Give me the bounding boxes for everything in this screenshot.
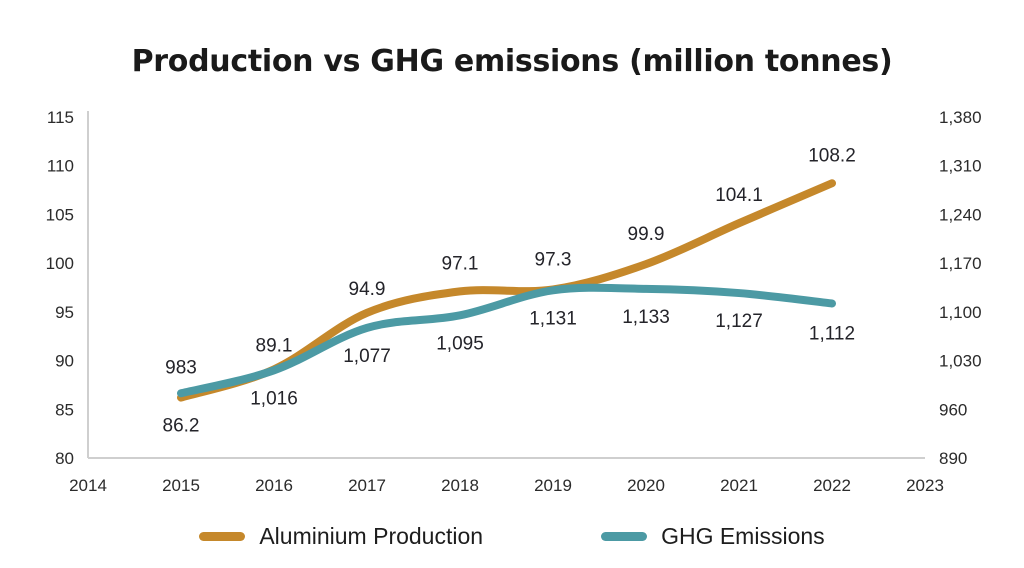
legend-label: GHG Emissions xyxy=(661,523,825,550)
series-layer xyxy=(181,183,832,397)
y-axis-tick-label-right: 960 xyxy=(939,400,967,419)
data-label: 99.9 xyxy=(628,224,665,245)
x-axis-tick-label: 2017 xyxy=(348,476,386,495)
chart-legend: Aluminium Production GHG Emissions xyxy=(0,523,1024,550)
y-axis-tick-label-left: 90 xyxy=(55,352,74,371)
data-label: 89.1 xyxy=(256,335,293,356)
legend-swatch-icon xyxy=(601,532,647,541)
legend-item-ghg-emissions[interactable]: GHG Emissions xyxy=(601,523,825,550)
y-axis-tick-label-right: 1,240 xyxy=(939,205,982,224)
data-label: 104.1 xyxy=(715,185,763,206)
y-axis-tick-label-right: 890 xyxy=(939,449,967,468)
x-axis-tick-label: 2015 xyxy=(162,476,200,495)
y-axis-tick-label-left: 110 xyxy=(47,157,74,176)
x-axis-tick-label: 2023 xyxy=(906,476,944,495)
chart-plot-area: 115110105100959085801,3801,3101,2401,170… xyxy=(0,0,1024,568)
y-axis-tick-label-right: 1,380 xyxy=(939,108,982,127)
legend-item-aluminium-production[interactable]: Aluminium Production xyxy=(199,523,483,550)
data-label: 1,077 xyxy=(343,346,391,367)
data-label: 1,127 xyxy=(715,311,763,332)
y-axis-tick-label-left: 100 xyxy=(46,254,74,273)
x-axis-tick-label: 2020 xyxy=(627,476,665,495)
y-axis-tick-label-right: 1,170 xyxy=(939,254,982,273)
x-axis-tick-label: 2016 xyxy=(255,476,293,495)
y-axis-tick-label-right: 1,100 xyxy=(939,303,982,322)
x-axis-tick-label: 2019 xyxy=(534,476,572,495)
data-label: 97.3 xyxy=(535,249,572,270)
data-label: 1,095 xyxy=(436,333,484,354)
data-label: 1,112 xyxy=(809,324,855,345)
data-label: 86.2 xyxy=(163,416,200,437)
y-axis-tick-label-right: 1,030 xyxy=(939,352,982,371)
y-axis-tick-label-left: 105 xyxy=(46,205,74,224)
chart-container: Production vs GHG emissions (million ton… xyxy=(0,0,1024,568)
legend-label: Aluminium Production xyxy=(259,523,483,550)
data-label: 1,131 xyxy=(529,308,577,329)
data-label: 1,133 xyxy=(622,307,670,328)
x-axis-tick-label: 2021 xyxy=(720,476,758,495)
x-axis-tick-label: 2014 xyxy=(69,476,107,495)
y-axis-tick-label-left: 115 xyxy=(47,108,74,127)
data-label: 97.1 xyxy=(442,253,479,274)
y-axis-tick-label-left: 80 xyxy=(55,449,74,468)
y-axis-tick-label-left: 95 xyxy=(55,303,74,322)
data-label: 94.9 xyxy=(349,279,386,300)
x-axis-tick-label: 2018 xyxy=(441,476,479,495)
x-axis-tick-label: 2022 xyxy=(813,476,851,495)
legend-swatch-icon xyxy=(199,532,245,541)
data-label: 108.2 xyxy=(808,145,856,166)
data-label: 1,016 xyxy=(250,388,298,409)
data-label: 983 xyxy=(165,357,197,378)
y-axis-tick-label-right: 1,310 xyxy=(939,157,982,176)
y-axis-tick-label-left: 85 xyxy=(55,400,74,419)
